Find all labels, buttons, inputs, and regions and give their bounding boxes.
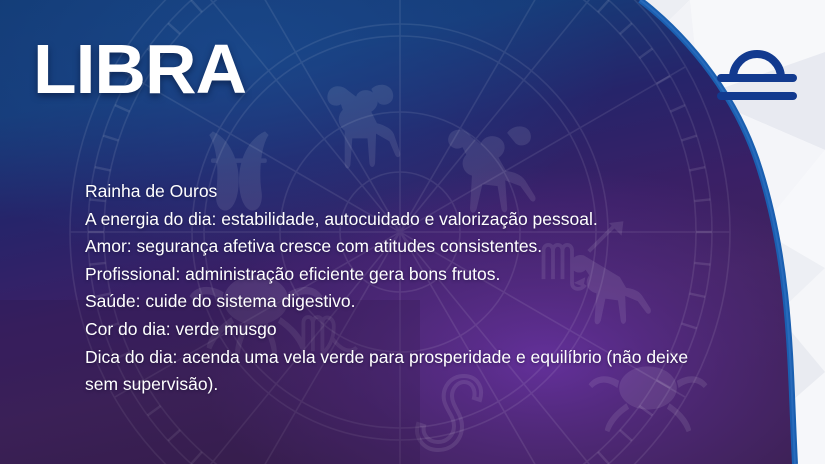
horoscope-text-block: Rainha de Ouros A energia do dia: estabi…	[85, 178, 705, 399]
horoscope-line-3: Amor: segurança afetiva cresce com atitu…	[85, 233, 705, 261]
horoscope-line-2: A energia do dia: estabilidade, autocuid…	[85, 206, 705, 234]
horoscope-line-1: Rainha de Ouros	[85, 178, 705, 206]
horoscope-card: LIBRA Rainha de Ouros A energia do dia: …	[0, 0, 825, 464]
horoscope-line-6: Cor do dia: verde musgo	[85, 316, 705, 344]
horoscope-line-5: Saúde: cuide do sistema digestivo.	[85, 288, 705, 316]
horoscope-line-4: Profissional: administração eficiente ge…	[85, 261, 705, 289]
horoscope-line-7: Dica do dia: acenda uma vela verde para …	[85, 344, 705, 399]
libra-zodiac-glyph	[711, 26, 803, 108]
page-title: LIBRA	[33, 34, 246, 104]
